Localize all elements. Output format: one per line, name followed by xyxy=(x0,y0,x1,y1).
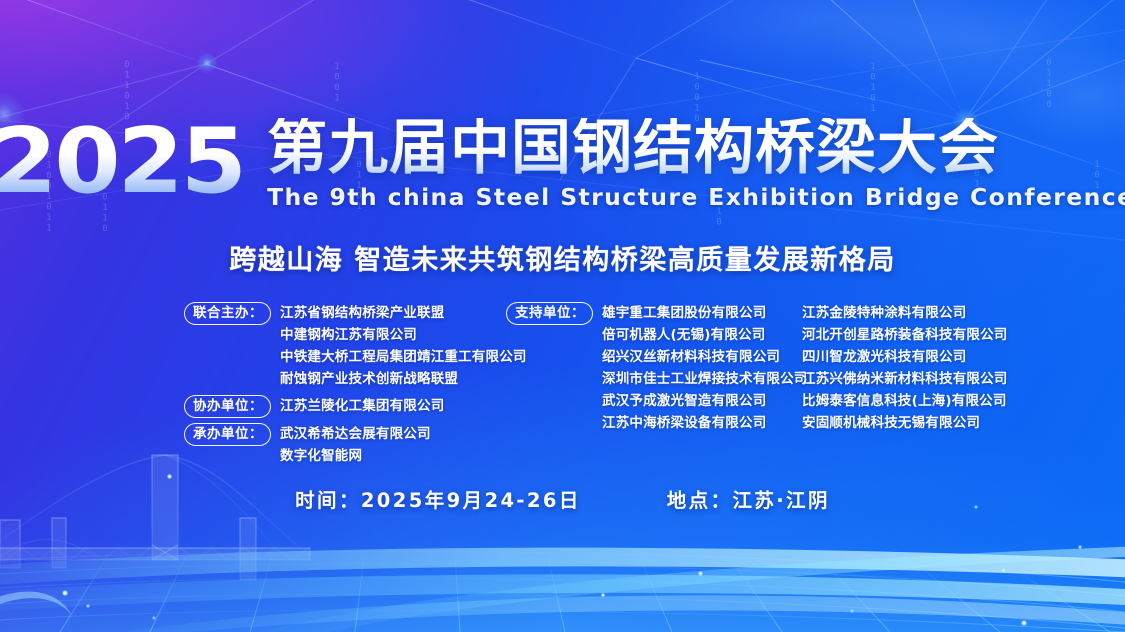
sponsor-label-badge: 支持单位： xyxy=(506,302,593,325)
sponsor-item: 河北开创星路桥装备科技有限公司 xyxy=(802,324,1065,346)
sponsor-group-supporting-units: 协办单位： 江苏兰陵化工集团有限公司 xyxy=(184,395,506,418)
sponsor-group-host-units: 承办单位： 武汉希希达会展有限公司 数字化智能网 xyxy=(184,423,506,467)
sponsor-column-left: 联合主办： 江苏省钢结构桥梁产业联盟 中建钢构江苏有限公司 中铁建大桥工程局集团… xyxy=(184,302,506,467)
event-details: 时间：2025年9月24-26日 地点：江苏·江阴 xyxy=(0,484,1125,513)
sponsor-item: 武汉希希达会展有限公司 xyxy=(280,423,431,445)
sponsor-item: 安固顺机械科技无锡有限公司 xyxy=(802,412,1065,434)
event-location: 地点：江苏·江阴 xyxy=(667,484,830,513)
sponsor-item: 绍兴汉丝新材料科技有限公司 xyxy=(602,346,808,368)
sponsor-item: 江苏兰陵化工集团有限公司 xyxy=(280,395,444,417)
sponsor-column-right: 江苏金陵特种涂料有限公司 河北开创星路桥装备科技有限公司 四川智龙激光科技有限公… xyxy=(802,302,1065,434)
sponsor-item: 深圳市佳士工业焊接技术有限公司 xyxy=(602,368,808,390)
event-date: 时间：2025年9月24-26日 xyxy=(295,484,581,513)
sponsor-item: 武汉予成激光智造有限公司 xyxy=(602,390,808,412)
sponsor-item: 江苏金陵特种涂料有限公司 xyxy=(802,302,1065,324)
sponsor-item: 比姆泰客信息科技(上海)有限公司 xyxy=(802,390,1065,412)
page-subtitle-en: The 9th china Steel Structure Exhibition… xyxy=(267,183,1125,211)
sponsor-item: 倍可机器人(无锡)有限公司 xyxy=(602,324,808,346)
sponsor-item: 中铁建大桥工程局集团靖江重工有限公司 xyxy=(280,346,527,368)
sponsor-item: 江苏兴佛纳米新材料科技有限公司 xyxy=(802,368,1065,390)
slogan: 跨越山海 智造未来共筑钢结构桥梁高质量发展新格局 xyxy=(0,238,1125,277)
sponsor-item: 江苏省钢结构桥梁产业联盟 xyxy=(280,302,527,324)
sponsor-column-middle: 支持单位： 雄宇重工集团股份有限公司 倍可机器人(无锡)有限公司 绍兴汉丝新材料… xyxy=(506,302,802,434)
page-title: 第九届中国钢结构桥梁大会 xyxy=(267,118,1125,179)
sponsor-item: 江苏中海桥梁设备有限公司 xyxy=(602,412,808,434)
sponsor-item: 中建钢构江苏有限公司 xyxy=(280,324,527,346)
sponsor-group-sponsors: 支持单位： 雄宇重工集团股份有限公司 倍可机器人(无锡)有限公司 绍兴汉丝新材料… xyxy=(506,302,802,434)
year-wordmark: 2025 xyxy=(0,118,260,205)
sponsor-item: 耐蚀钢产业技术创新战略联盟 xyxy=(280,368,527,390)
sponsor-item: 四川智龙激光科技有限公司 xyxy=(802,346,1065,368)
sponsor-label-badge: 承办单位： xyxy=(184,423,271,446)
sponsor-section: 联合主办： 江苏省钢结构桥梁产业联盟 中建钢构江苏有限公司 中铁建大桥工程局集团… xyxy=(184,302,1065,467)
sponsor-label-badge: 协办单位： xyxy=(184,395,271,418)
conference-banner: 01001011 10110 011010 1001 01101 10010 0… xyxy=(0,0,1125,632)
sponsor-label-badge: 联合主办： xyxy=(184,302,271,325)
sponsor-item: 数字化智能网 xyxy=(280,445,431,467)
banner-title-row: 2025 第九届中国钢结构桥梁大会 The 9th china Steel St… xyxy=(0,118,1125,214)
sponsor-group-co-organizers: 联合主办： 江苏省钢结构桥梁产业联盟 中建钢构江苏有限公司 中铁建大桥工程局集团… xyxy=(184,302,506,390)
sponsor-item: 雄宇重工集团股份有限公司 xyxy=(602,302,808,324)
